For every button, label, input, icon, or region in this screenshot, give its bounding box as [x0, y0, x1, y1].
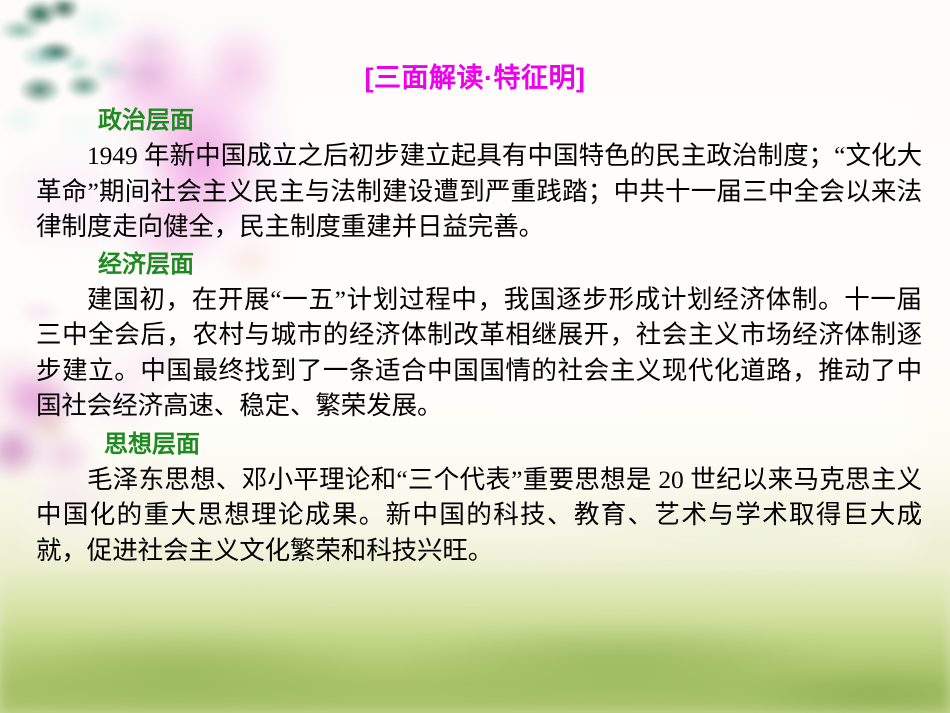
body-column: 政治层面 1949 年新中国成立之后初步建立起具有中国特色的民主政治制度；“文化… [36, 104, 922, 568]
section-body-ideological: 毛泽东思想、邓小平理论和“三个代表”重要思想是 20 世纪以来马克思主义中国化的… [36, 462, 922, 569]
section-ideological: 思想层面 毛泽东思想、邓小平理论和“三个代表”重要思想是 20 世纪以来马克思主… [36, 428, 922, 569]
section-heading-political: 政治层面 [36, 104, 922, 138]
page-title: [三面解读·特征明] [0, 62, 950, 95]
section-economic: 经济层面 建国初，在开展“一五”计划过程中，我国逐步形成计划经济体制。十一届三中… [36, 248, 922, 424]
section-body-political: 1949 年新中国成立之后初步建立起具有中国特色的民主政治制度；“文化大革命”期… [36, 138, 922, 245]
section-heading-ideological: 思想层面 [36, 428, 922, 462]
section-heading-economic: 经济层面 [36, 248, 922, 282]
section-body-economic: 建国初，在开展“一五”计划过程中，我国逐步形成计划经济体制。十一届三中全会后，农… [36, 282, 922, 424]
slide-content: [三面解读·特征明] 政治层面 1949 年新中国成立之后初步建立起具有中国特色… [0, 0, 950, 713]
section-political: 政治层面 1949 年新中国成立之后初步建立起具有中国特色的民主政治制度；“文化… [36, 104, 922, 245]
slide-canvas: [三面解读·特征明] 政治层面 1949 年新中国成立之后初步建立起具有中国特色… [0, 0, 950, 713]
